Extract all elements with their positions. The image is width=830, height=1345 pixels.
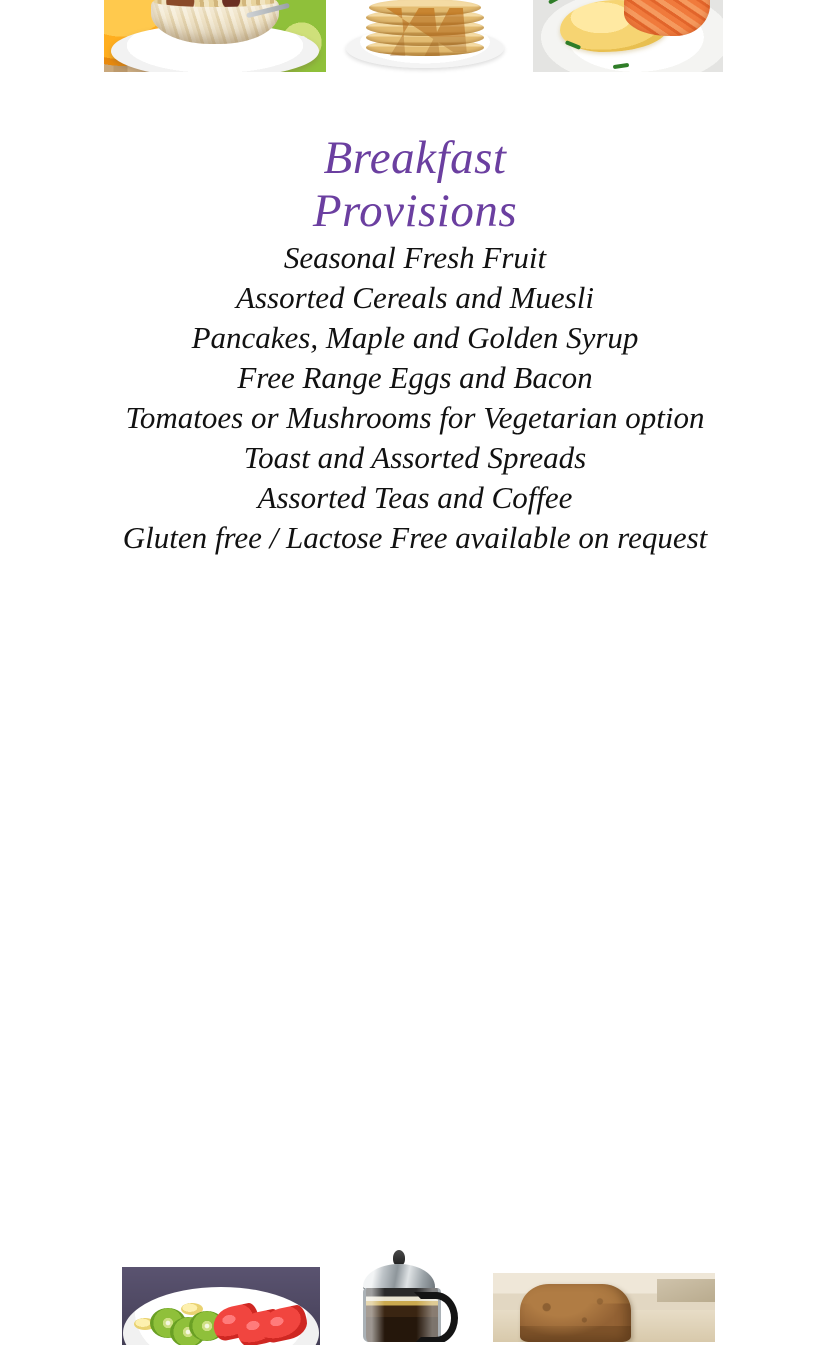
press-handle-shape bbox=[414, 1292, 458, 1342]
french-press-photo bbox=[355, 1250, 460, 1342]
eggs-benedict-photo bbox=[533, 0, 723, 72]
page-title: Breakfast Provisions bbox=[0, 132, 830, 238]
title-line-1: Breakfast bbox=[0, 132, 830, 185]
muesli-bowl-photo bbox=[104, 0, 326, 72]
counter-shape bbox=[657, 1279, 715, 1302]
menu-item: Tomatoes or Mushrooms for Vegetarian opt… bbox=[0, 398, 830, 438]
fruit-salad-photo bbox=[122, 1267, 320, 1345]
menu-item: Assorted Cereals and Muesli bbox=[0, 278, 830, 318]
top-photo-row bbox=[0, 0, 830, 76]
title-line-2: Provisions bbox=[0, 185, 830, 238]
menu-item: Toast and Assorted Spreads bbox=[0, 438, 830, 478]
herb-garnish bbox=[613, 63, 629, 69]
menu-item: Free Range Eggs and Bacon bbox=[0, 358, 830, 398]
pancake-stack-photo bbox=[337, 0, 512, 76]
menu-item: Assorted Teas and Coffee bbox=[0, 478, 830, 518]
menu-item-list: Seasonal Fresh Fruit Assorted Cereals an… bbox=[0, 238, 830, 558]
bread-loaf-shape bbox=[520, 1284, 631, 1342]
bottom-photo-row bbox=[0, 622, 830, 720]
menu-item: Gluten free / Lactose Free available on … bbox=[0, 518, 830, 558]
herb-garnish bbox=[548, 0, 564, 4]
menu-item: Seasonal Fresh Fruit bbox=[0, 238, 830, 278]
menu-content: Breakfast Provisions Seasonal Fresh Frui… bbox=[0, 132, 830, 558]
flyer-page: Breakfast Provisions Seasonal Fresh Frui… bbox=[0, 0, 830, 720]
bread-loaf-photo bbox=[493, 1273, 715, 1342]
menu-item: Pancakes, Maple and Golden Syrup bbox=[0, 318, 830, 358]
